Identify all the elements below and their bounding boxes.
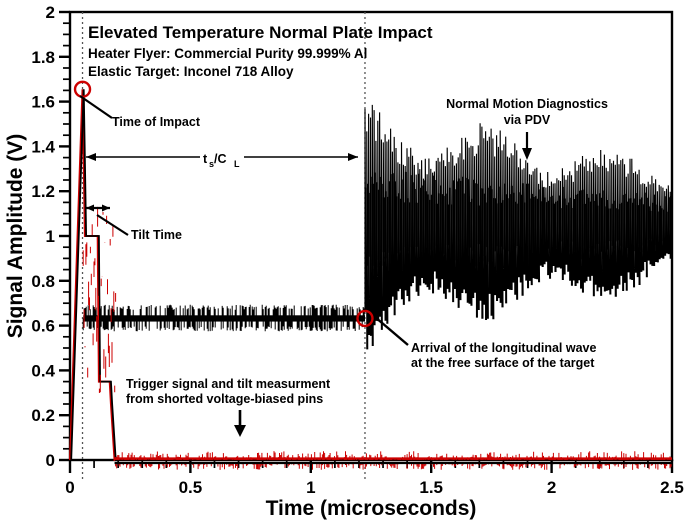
x-axis-title: Time (microseconds) bbox=[266, 497, 477, 520]
oscilloscope-plot: 00.20.40.60.811.21.41.61.82 00.511.522.5… bbox=[0, 0, 700, 528]
x-tick-label: 1 bbox=[306, 478, 315, 497]
y-tick-label: 1.6 bbox=[31, 93, 55, 112]
x-tick-label: 2 bbox=[547, 478, 556, 497]
y-axis-title: Signal Amplitude (V) bbox=[4, 134, 27, 339]
y-tick-label: 1.4 bbox=[31, 137, 55, 156]
chart-subtitle-flyer: Heater Flyer: Commercial Purity 99.999% … bbox=[88, 46, 367, 61]
chart-title: Elevated Temperature Normal Plate Impact bbox=[88, 23, 433, 42]
y-tick-label: 1 bbox=[46, 227, 55, 246]
pdv-diagnostics-label-line1: Normal Motion Diagnostics bbox=[446, 97, 608, 111]
y-tick-label: 0 bbox=[46, 451, 55, 470]
time-of-impact-label: Time of Impact bbox=[112, 115, 201, 129]
longitudinal-arrival-label-line2: at the free surface of the target bbox=[411, 356, 595, 370]
y-tick-label: 1.8 bbox=[31, 48, 55, 67]
y-tick-label: 1.2 bbox=[31, 182, 55, 201]
y-tick-label: 0.2 bbox=[31, 406, 55, 425]
chart-figure: 00.20.40.60.811.21.41.61.82 00.511.522.5… bbox=[0, 0, 700, 528]
x-tick-label: 1.5 bbox=[419, 478, 443, 497]
tilt-time-label: Tilt Time bbox=[131, 228, 182, 242]
y-tick-label: 0.6 bbox=[31, 317, 55, 336]
trigger-note-label-line2: from shorted voltage-biased pins bbox=[126, 392, 323, 406]
chart-subtitle-target: Elastic Target: Inconel 718 Alloy bbox=[88, 64, 294, 79]
y-tick-label: 0.8 bbox=[31, 272, 55, 291]
transit-time-slash-c: /C bbox=[214, 152, 227, 166]
pdv-diagnostics-label-line2: via PDV bbox=[504, 113, 551, 127]
x-tick-label: 0 bbox=[65, 478, 74, 497]
y-tick-label: 0.4 bbox=[31, 361, 55, 380]
trigger-note-label-line1: Trigger signal and tilt measurment bbox=[126, 377, 331, 391]
y-tick-label: 2 bbox=[46, 3, 55, 22]
longitudinal-arrival-label-line1: Arrival of the longitudinal wave bbox=[411, 341, 596, 355]
x-tick-label: 2.5 bbox=[660, 478, 684, 497]
transit-time-sub-l: L bbox=[234, 159, 240, 169]
x-tick-label: 0.5 bbox=[179, 478, 203, 497]
